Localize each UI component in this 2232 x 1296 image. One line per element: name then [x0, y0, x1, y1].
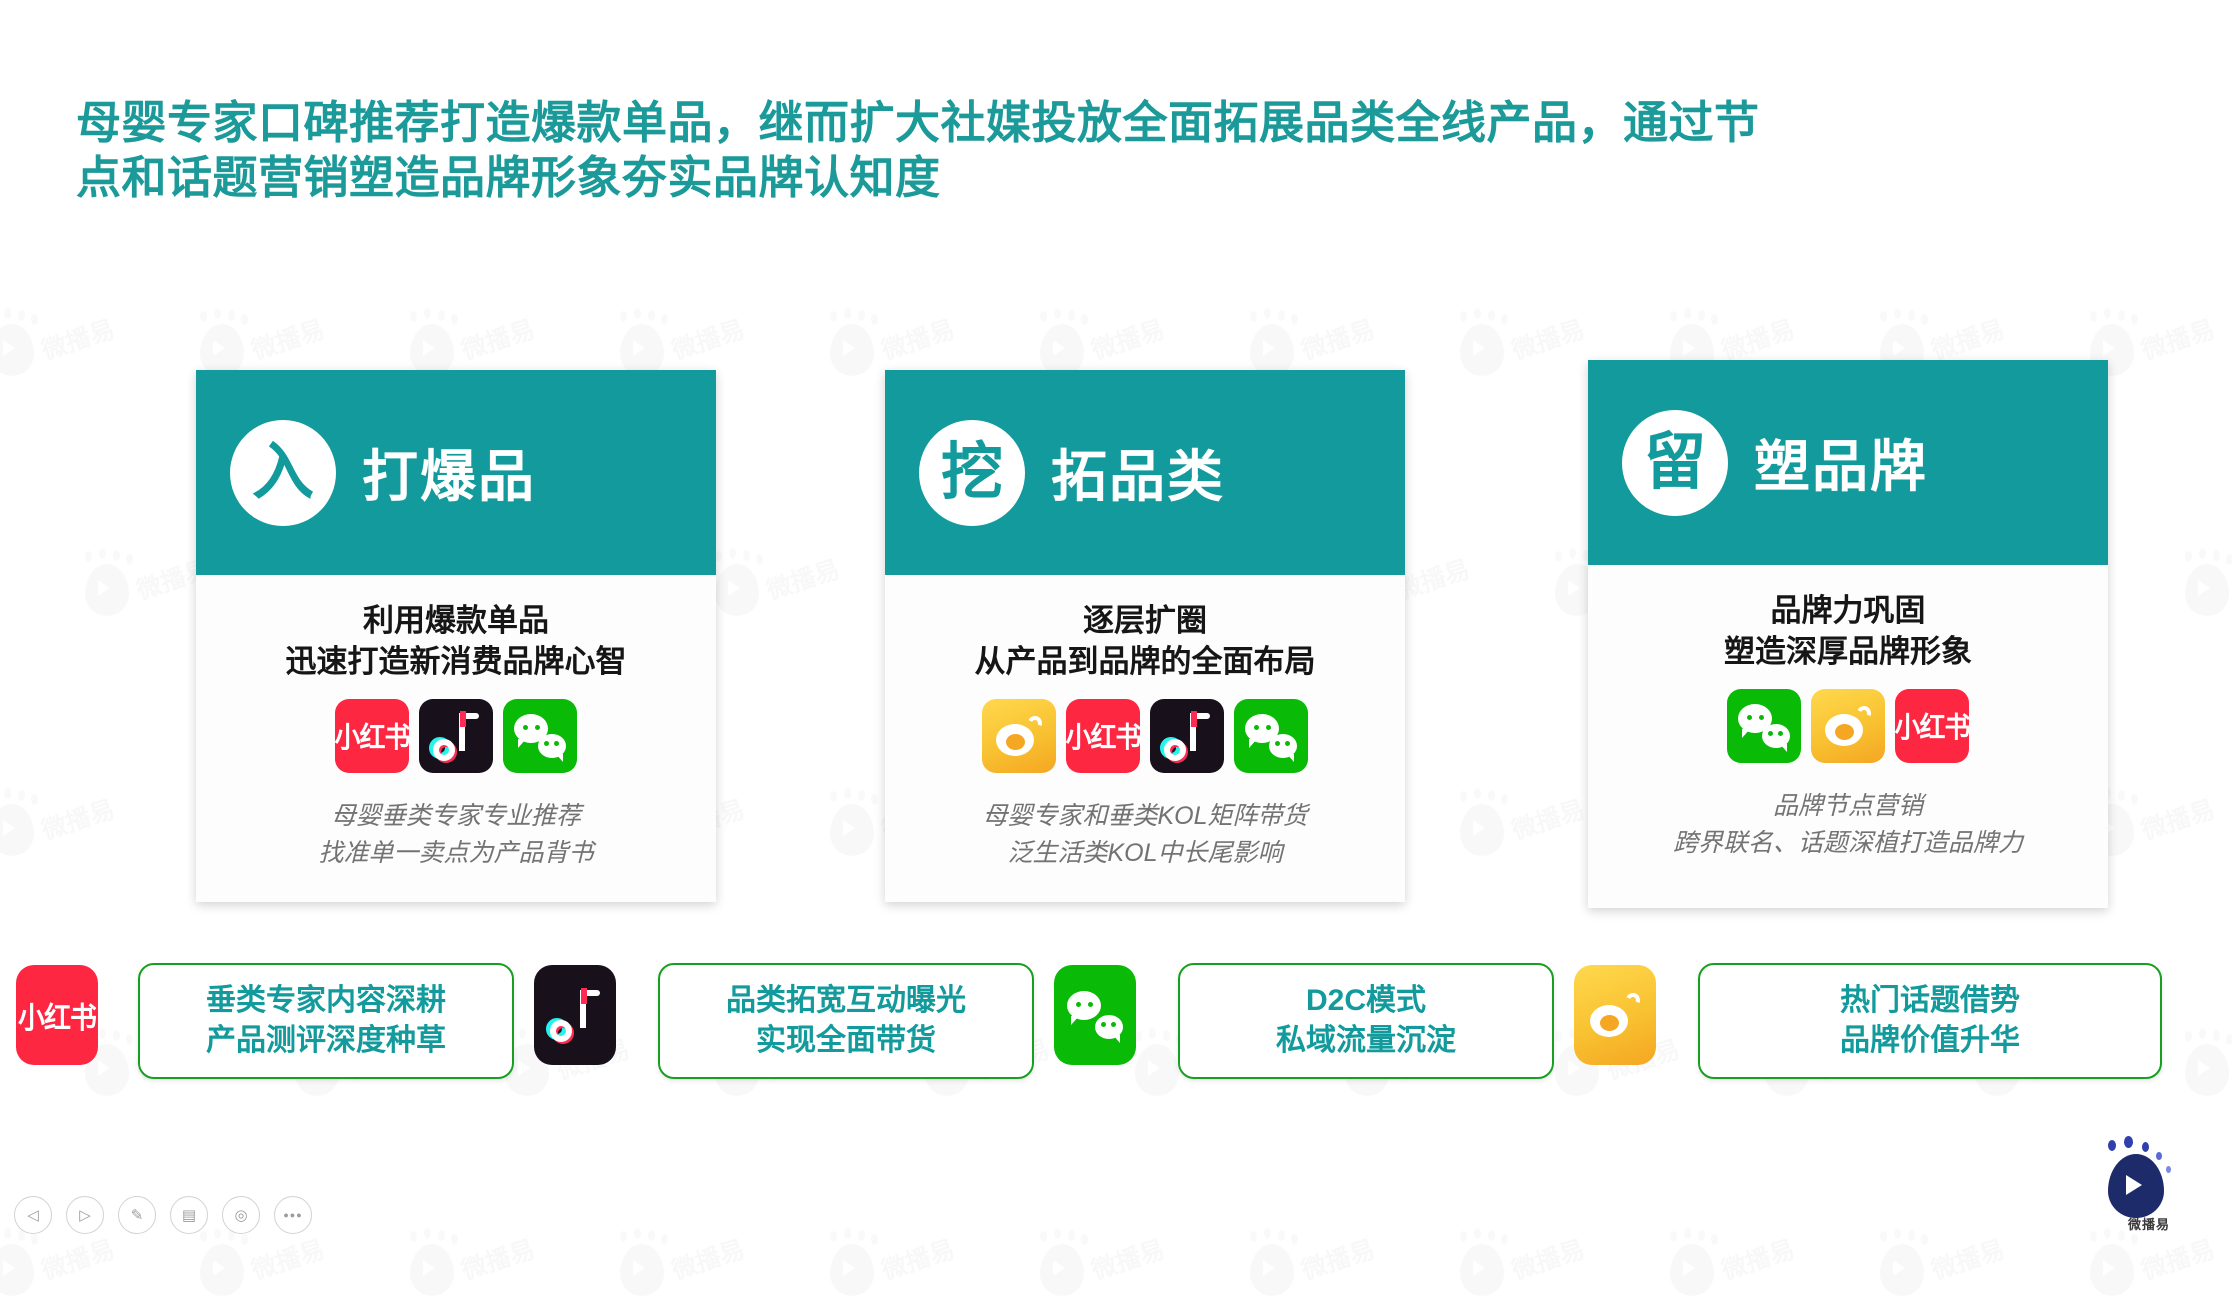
watermark-drop-icon	[0, 324, 34, 376]
channel-pill-wechat[interactable]: D2C模式 私域流量沉淀	[1178, 963, 1554, 1079]
watermark-dots-icon	[2088, 308, 2140, 322]
next-slide-icon[interactable]: ▷	[66, 1196, 104, 1234]
xiaohongshu-icon: 小红书	[16, 965, 98, 1065]
watermark-drop-icon	[830, 324, 874, 376]
wechat-icon	[1054, 965, 1136, 1065]
channel-summary-row: 小红书 垂类专家内容深耕 产品测评深度种草 品类拓宽互动曝光 实现全面带货 D2…	[0, 965, 2232, 1095]
weibo-icon	[1811, 689, 1885, 763]
watermark-dots-icon	[0, 788, 40, 802]
watermark-text: 微播易	[2136, 310, 2218, 367]
watermark-drop-icon	[0, 804, 34, 856]
channel-pill-douyin[interactable]: 品类拓宽互动曝光 实现全面带货	[658, 963, 1034, 1079]
watermark-drop-icon	[1250, 324, 1294, 376]
watermark-dots-icon	[83, 548, 135, 562]
previous-slide-icon[interactable]: ◁	[14, 1196, 52, 1234]
strategy-card-1-sub-line-2: 找准单一卖点为产品背书	[214, 836, 698, 872]
xiaohongshu-icon-label: 小红书	[1066, 715, 1140, 756]
watermark-text: 微播易	[1506, 310, 1588, 367]
channel-pill-wechat-line-2: 私域流量沉淀	[1276, 1021, 1456, 1061]
strategy-card-3-title: 塑品牌	[1754, 422, 1928, 503]
xiaohongshu-icon-label: 小红书	[1895, 705, 1969, 746]
watermark-drop-icon	[1460, 804, 1504, 856]
strategy-card-3-sub-line-1: 品牌节点营销	[1606, 789, 2090, 825]
watermark-drop-icon	[2185, 564, 2229, 616]
watermark-dots-icon	[1038, 1228, 1090, 1242]
watermark-dots-icon	[198, 308, 250, 322]
strategy-card-2[interactable]: 挖 拓品类 逐层扩圈 从产品到品牌的全面布局 小红书 母婴专家和垂类KOL矩阵带…	[885, 370, 1405, 902]
watermark-drop-icon	[830, 804, 874, 856]
watermark-text: 微播易	[2136, 790, 2218, 847]
watermark-text: 微播易	[761, 550, 843, 607]
watermark-text: 微播易	[36, 790, 118, 847]
wechat-icon	[1727, 689, 1801, 763]
page-title-line-1: 母婴专家口碑推荐打造爆款单品，继而扩大社媒投放全面拓展品类全线产品，通过节	[76, 96, 2166, 151]
watermark-dots-icon	[1458, 788, 1510, 802]
watermark-dots-icon	[1248, 1228, 1300, 1242]
zoom-icon[interactable]: ◎	[222, 1196, 260, 1234]
xiaohongshu-icon: 小红书	[1895, 689, 1969, 763]
strategy-card-1-header: 入 打爆品	[196, 370, 716, 575]
strategy-card-3-sub-line-2: 跨界联名、话题深植打造品牌力	[1606, 826, 2090, 862]
watermark-text: 微播易	[876, 310, 958, 367]
more-options-icon[interactable]: ●●●	[274, 1196, 312, 1234]
watermark-text: 微播易	[1296, 310, 1378, 367]
strategy-card-1-body: 利用爆款单品 迅速打造新消费品牌心智 小红书 母婴垂类专家专业推荐 找准单一卖点…	[196, 575, 716, 902]
strategy-card-1-heading-line-2: 迅速打造新消费品牌心智	[214, 642, 698, 683]
douyin-icon	[534, 965, 616, 1065]
watermark-dots-icon	[1878, 1228, 1930, 1242]
watermark-dots-icon	[1248, 308, 1300, 322]
strategy-card-2-header: 挖 拓品类	[885, 370, 1405, 575]
weiboyi-brand-logo: 微播易	[2094, 1140, 2204, 1232]
watermark-text: 微播易	[1716, 1230, 1798, 1287]
watermark-text: 微播易	[1506, 790, 1588, 847]
channel-pill-douyin-line-1: 品类拓宽互动曝光	[726, 981, 966, 1021]
strategy-card-1-sub-line-1: 母婴垂类专家专业推荐	[214, 799, 698, 835]
watermark-drop-icon	[1040, 324, 1084, 376]
watermark-drop-icon	[85, 564, 129, 616]
strategy-card-2-logo-row: 小红书	[903, 699, 1387, 773]
watermark-dots-icon	[408, 308, 460, 322]
strategy-card-2-body: 逐层扩圈 从产品到品牌的全面布局 小红书 母婴专家和垂类KOL矩阵带货 泛生活类…	[885, 575, 1405, 902]
strategy-card-3-header: 留 塑品牌	[1588, 360, 2108, 565]
watermark-drop-icon	[715, 564, 759, 616]
watermark-dots-icon	[828, 308, 880, 322]
strategy-card-3-body: 品牌力巩固 塑造深厚品牌形象 小红书 品牌节点营销 跨界联名、话题深植打造品牌力	[1588, 565, 2108, 908]
watermark-dots-icon	[618, 1228, 670, 1242]
watermark-dots-icon	[1668, 308, 1720, 322]
watermark-text: 微播易	[1296, 1230, 1378, 1287]
weibo-icon	[982, 699, 1056, 773]
watermark-text: 微播易	[666, 1230, 748, 1287]
watermark-dots-icon	[408, 1228, 460, 1242]
card-badge-icon-liu: 留	[1622, 410, 1728, 516]
strategy-card-2-sub-line-2: 泛生活类KOL中长尾影响	[903, 836, 1387, 872]
watermark-text: 微播易	[456, 310, 538, 367]
watermark-text: 微播易	[36, 310, 118, 367]
strategy-card-2-heading-line-1: 逐层扩圈	[903, 601, 1387, 642]
watermark-dots-icon	[1668, 1228, 1720, 1242]
strategy-card-2-title: 拓品类	[1051, 432, 1225, 513]
watermark-drop-icon	[200, 324, 244, 376]
watermark-text: 微播易	[2136, 1230, 2218, 1287]
watermark-drop-icon	[1460, 324, 1504, 376]
watermark-text: 微播易	[1926, 1230, 2008, 1287]
strategy-card-2-sub-line-1: 母婴专家和垂类KOL矩阵带货	[903, 799, 1387, 835]
slide-grid-icon[interactable]: ▤	[170, 1196, 208, 1234]
watermark-text: 微播易	[1086, 1230, 1168, 1287]
watermark-text: 微播易	[246, 1230, 328, 1287]
watermark-dots-icon	[828, 788, 880, 802]
card-badge-icon-wa: 挖	[919, 420, 1025, 526]
watermark-dots-icon	[1038, 308, 1090, 322]
watermark-text: 微播易	[1926, 310, 2008, 367]
watermark-drop-icon	[410, 324, 454, 376]
xiaohongshu-icon-label: 小红书	[335, 715, 409, 756]
strategy-card-3-heading-line-1: 品牌力巩固	[1606, 591, 2090, 632]
strategy-card-1-heading-line-1: 利用爆款单品	[214, 601, 698, 642]
strategy-card-1-title: 打爆品	[362, 432, 536, 513]
watermark-text: 微播易	[876, 1230, 958, 1287]
weibo-icon	[1574, 965, 1656, 1065]
watermark-dots-icon	[0, 308, 40, 322]
xiaohongshu-icon-label: 小红书	[18, 994, 96, 1037]
channel-pill-douyin-line-2: 实现全面带货	[726, 1021, 966, 1061]
douyin-icon	[1150, 699, 1224, 773]
xiaohongshu-icon: 小红书	[335, 699, 409, 773]
watermark-text: 微播易	[1506, 1230, 1588, 1287]
wechat-icon	[503, 699, 577, 773]
strategy-card-1-logo-row: 小红书	[214, 699, 698, 773]
strategy-card-3-logo-row: 小红书	[1606, 689, 2090, 763]
watermark-text: 微播易	[1716, 310, 1798, 367]
watermark-dots-icon	[713, 548, 765, 562]
strategy-card-2-heading-line-2: 从产品到品牌的全面布局	[903, 642, 1387, 683]
channel-pill-xiaohongshu[interactable]: 垂类专家内容深耕 产品测评深度种草	[138, 963, 514, 1079]
wechat-icon	[1234, 699, 1308, 773]
pen-icon[interactable]: ✎	[118, 1196, 156, 1234]
watermark-dots-icon	[828, 1228, 880, 1242]
strategy-card-1[interactable]: 入 打爆品 利用爆款单品 迅速打造新消费品牌心智 小红书 母婴垂类专家专业推荐 …	[196, 370, 716, 902]
slide-toolbar[interactable]: ◁ ▷ ✎ ▤ ◎ ●●●	[14, 1196, 312, 1234]
channel-pill-weibo-line-1: 热门话题借势	[1840, 981, 2020, 1021]
douyin-icon	[419, 699, 493, 773]
xiaohongshu-icon: 小红书	[1066, 699, 1140, 773]
card-badge-icon-ru: 入	[230, 420, 336, 526]
channel-pill-weibo-line-2: 品牌价值升华	[1840, 1021, 2020, 1061]
channel-pill-weibo[interactable]: 热门话题借势 品牌价值升华	[1698, 963, 2162, 1079]
channel-pill-xiaohongshu-line-2: 产品测评深度种草	[206, 1021, 446, 1061]
strategy-card-3[interactable]: 留 塑品牌 品牌力巩固 塑造深厚品牌形象 小红书 品牌节点营销 跨界联名、话题深…	[1588, 360, 2108, 908]
weiboyi-brand-label: 微播易	[2094, 1214, 2204, 1233]
watermark-text: 微播易	[246, 310, 328, 367]
watermark-text: 微播易	[666, 310, 748, 367]
watermark-dots-icon	[1458, 308, 1510, 322]
page-title-line-2: 点和话题营销塑造品牌形象夯实品牌认知度	[76, 151, 2166, 206]
watermark-text: 微播易	[36, 1230, 118, 1287]
watermark-drop-icon	[620, 324, 664, 376]
channel-pill-xiaohongshu-line-1: 垂类专家内容深耕	[206, 981, 446, 1021]
watermark-dots-icon	[1878, 308, 1930, 322]
channel-pill-wechat-line-1: D2C模式	[1276, 981, 1456, 1021]
page-title: 母婴专家口碑推荐打造爆款单品，继而扩大社媒投放全面拓展品类全线产品，通过节 点和…	[76, 96, 2166, 206]
watermark-dots-icon	[2183, 548, 2232, 562]
strategy-card-3-heading-line-2: 塑造深厚品牌形象	[1606, 632, 2090, 673]
watermark-dots-icon	[618, 308, 670, 322]
weiboyi-drop-icon	[2108, 1154, 2164, 1218]
watermark-text: 微播易	[456, 1230, 538, 1287]
watermark-dots-icon	[1458, 1228, 1510, 1242]
watermark-text: 微播易	[1086, 310, 1168, 367]
